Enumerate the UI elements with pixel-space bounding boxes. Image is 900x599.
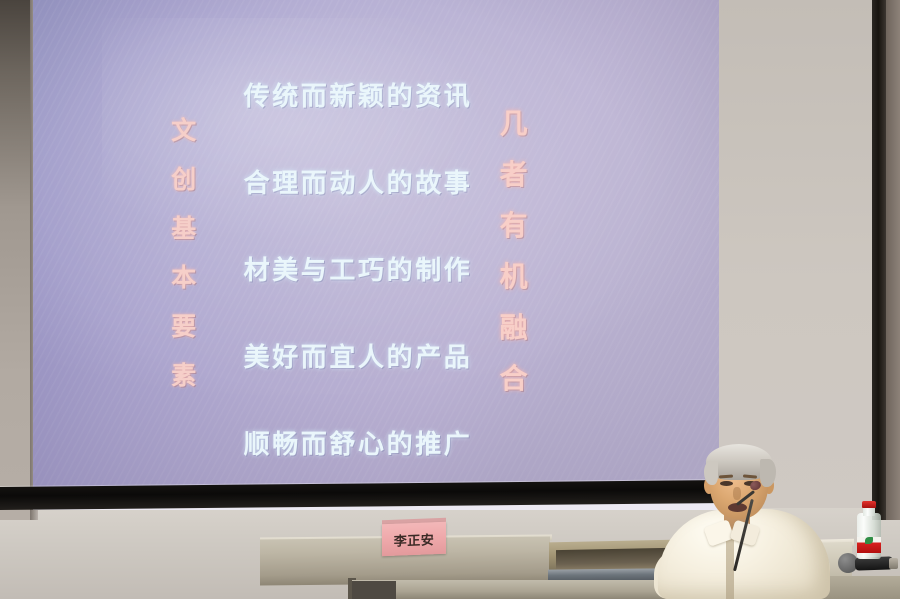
desk-dark-notch	[352, 581, 396, 599]
projection-vignette	[33, 0, 719, 492]
water-bottle-leaf-icon	[865, 537, 873, 544]
speaker-name-text: 李正安	[394, 529, 435, 550]
speaker-nose	[733, 487, 741, 500]
speaker-figure	[648, 437, 838, 599]
handheld-microphone-tip	[889, 558, 898, 569]
wall-dark-strip-right	[872, 0, 886, 520]
speaker-hair-left	[704, 461, 718, 485]
speaker-eye-left	[720, 481, 733, 486]
speaker-name-card: 李正安	[382, 522, 446, 556]
wall-panel-far-right	[886, 0, 900, 520]
speaker-shirt-placket	[726, 533, 734, 599]
projected-slide-area	[33, 0, 719, 492]
water-bottle	[856, 501, 882, 559]
water-bottle-cap	[862, 501, 876, 508]
photo-scene: 文 创 基 本 要 素 传统而新颖的资讯 合理而动人的故事 材美与工巧的制作 美…	[0, 0, 900, 599]
